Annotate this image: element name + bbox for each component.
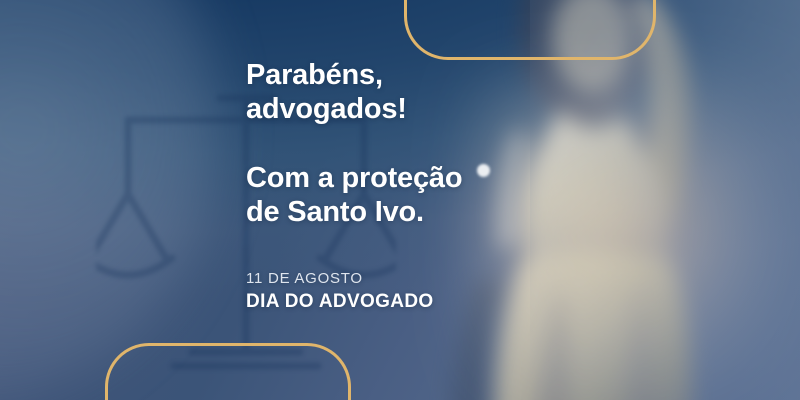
- copy-block: Parabéns, advogados! Com a proteção de S…: [246, 59, 546, 314]
- headline-text: Parabéns, advogados!: [246, 59, 546, 126]
- event-label: DIA DO ADVOGADO: [246, 291, 546, 314]
- date-block: 11 DE AGOSTO DIA DO ADVOGADO: [246, 270, 546, 315]
- date-label: 11 DE AGOSTO: [246, 270, 546, 289]
- subheadline-text: Com a proteção de Santo Ivo.: [246, 162, 546, 229]
- dia-do-advogado-banner: Parabéns, advogados! Com a proteção de S…: [0, 0, 800, 400]
